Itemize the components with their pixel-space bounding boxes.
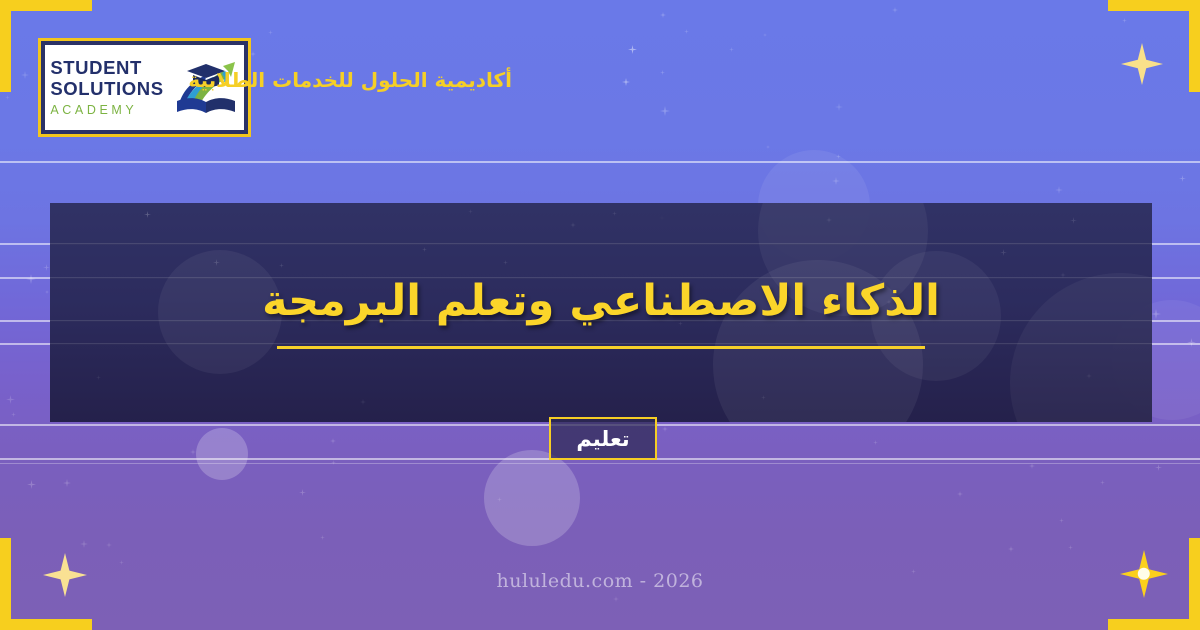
sparkle-icon [766,145,770,149]
sparkle-icon [660,70,665,75]
logo-line-1: STUDENT [50,59,163,78]
sparkle-icon [1059,518,1064,523]
sparkle-icon [1055,186,1063,194]
sparkle-icon [835,103,843,111]
banner-canvas: الذكاء الاصطناعي وتعلم البرمجة تعليم STU… [0,0,1200,630]
sparkle-icon [1155,464,1162,471]
sparkle-icon [622,78,630,86]
sparkle-icon [662,426,668,432]
sparkle-icon [628,45,637,54]
logo-line-2: SOLUTIONS [50,80,163,99]
sparkle-icon [763,33,767,37]
category-badge[interactable]: تعليم [549,417,657,460]
sparkle-icon [1068,545,1073,550]
logo-wordmark: STUDENT SOLUTIONS ACADEMY [50,59,163,117]
sparkle-icon [119,560,124,565]
sparkle-icon [268,30,273,35]
sparkle-icon [106,542,112,548]
sparkle-icon [320,535,325,540]
brand-arabic-name: أكاديمية الحلول للخدمات الطلابية [262,68,512,92]
sparkle-icon [5,95,10,100]
logo-line-3: ACADEMY [50,104,163,117]
sparkle-icon [832,177,840,185]
bg-rule-1 [0,161,1200,163]
sparkle-icon [1100,480,1105,485]
title-underline [277,346,925,349]
sparkle-icon [1187,338,1196,347]
footer-credit: hululedu.com - 2026 [0,570,1200,592]
sparkle-icon [613,596,619,602]
sparkle-icon [497,497,502,502]
hero-title-block: الذكاء الاصطناعي وتعلم البرمجة [50,203,1152,422]
sparkle-icon [729,47,734,52]
sparkle-icon [190,449,196,455]
sparkle-icon [27,480,36,489]
sparkle-icon [11,412,16,417]
sparkle-icon [6,395,15,404]
sparkle-icon [43,264,50,271]
bg-rule-8 [0,463,1200,464]
sparkle-icon [1151,309,1161,319]
category-badge-label: تعليم [576,427,629,451]
sparkle-icon [892,7,898,13]
sparkle-icon [660,12,666,18]
sparkle-icon [331,460,336,465]
sparkle-icon [1008,546,1014,552]
sparkle-icon [684,29,689,34]
sparkle-icon [330,438,336,444]
sparkle-icon [63,479,71,487]
sparkle-icon [660,106,670,116]
sparkle-icon [836,154,841,159]
corner-bracket-top-right [1108,0,1200,92]
bg-circle-3 [484,450,580,546]
sparkle-icon [45,290,49,294]
sparkle-icon [299,489,306,496]
bg-circle-2 [196,428,248,480]
sparkle-icon [1029,463,1035,469]
sparkle-icon [1179,175,1186,182]
page-title: الذكاء الاصطناعي وتعلم البرمجة [262,276,940,326]
sparkle-icon [26,274,36,284]
sparkle-icon [957,491,963,497]
sparkle-icon [873,440,878,445]
